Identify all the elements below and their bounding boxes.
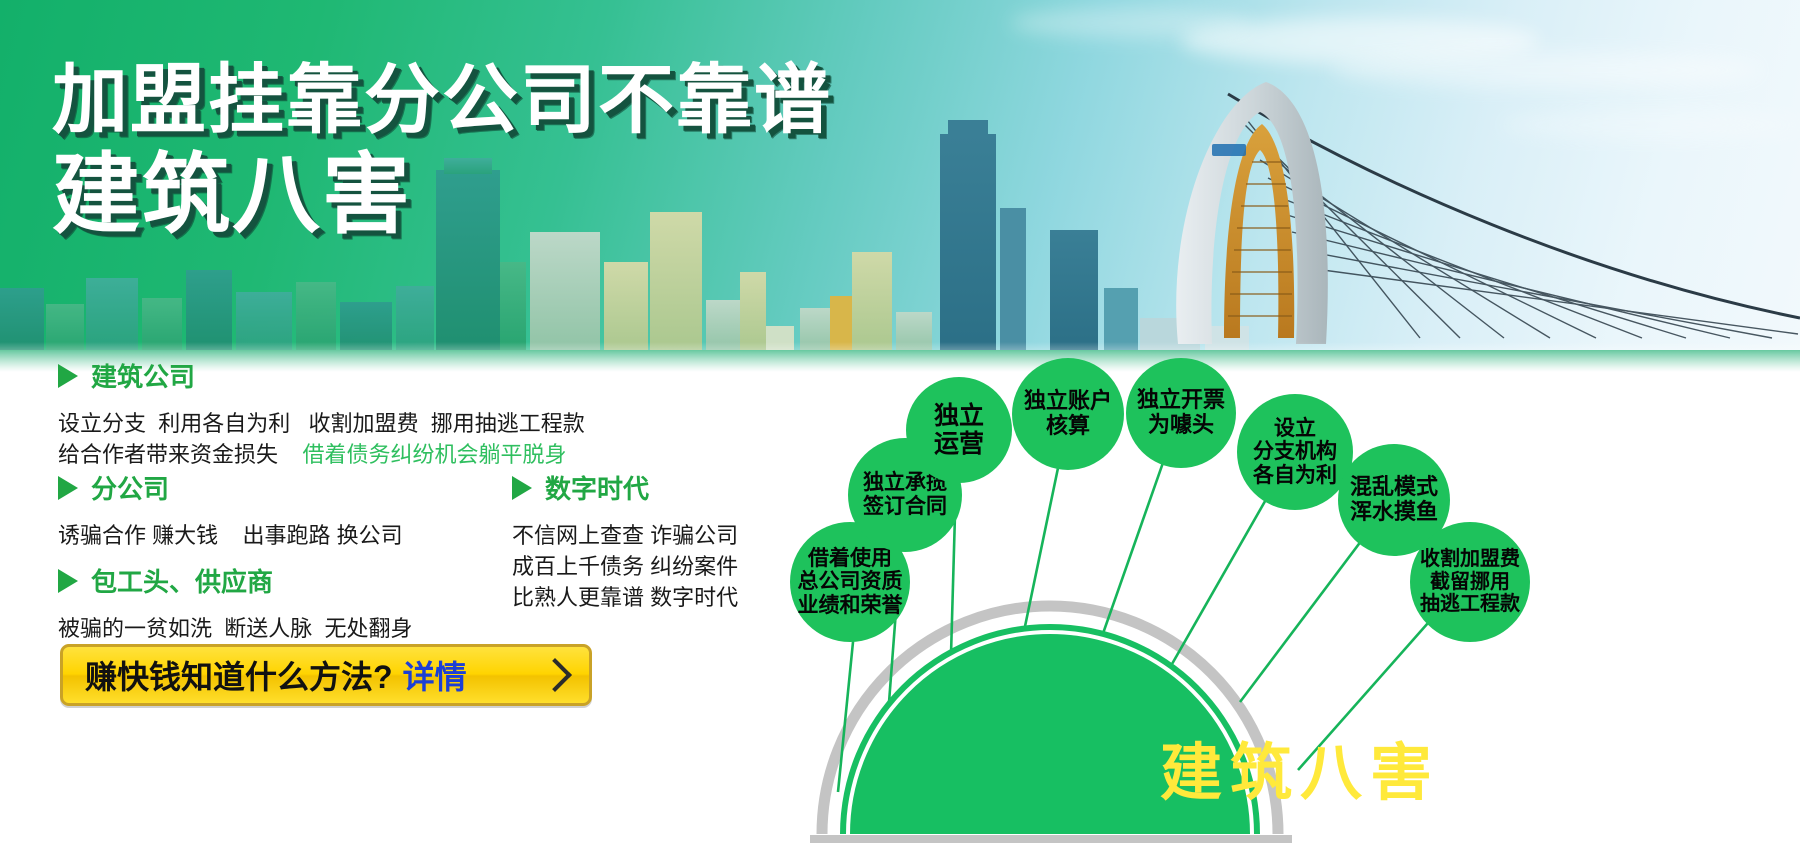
- section-body: 被骗的一贫如洗 断送人脉 无处翻身: [58, 613, 412, 644]
- body-line: 成百上千债务 纠纷案件: [512, 551, 738, 582]
- section-branch-company: 分公司 诱骗合作 赚大钱 出事跑路 换公司: [58, 469, 403, 551]
- section-digital-era: 数字时代 不信网上查查 诈骗公司 成百上千债务 纠纷案件 比熟人更靠谱 数字时代: [512, 469, 738, 614]
- section-heading: 分公司: [58, 469, 403, 506]
- bubble-text: 混乱模式 浑水摸鱼: [1350, 475, 1438, 524]
- bubble-text: 独立开票 为噱头: [1137, 388, 1225, 437]
- section-contractor-supplier: 包工头、供应商 被骗的一贫如洗 断送人脉 无处翻身: [58, 562, 412, 644]
- triangle-bullet-icon: [58, 364, 78, 388]
- section-heading: 数字时代: [512, 469, 738, 506]
- headline-line-1: 加盟挂靠分公司不靠谱: [52, 62, 832, 140]
- bubble-text: 设立 分支机构 各自为利: [1253, 417, 1337, 488]
- section-body: 设立分支 利用各自为利 收割加盟费 挪用抽逃工程款 给合作者带来资金损失 借着债…: [58, 408, 585, 470]
- body-text-highlight: 借着债务纠纷机会躺平脱身: [302, 442, 566, 467]
- triangle-bullet-icon: [58, 569, 78, 593]
- section-heading-label: 分公司: [91, 469, 169, 506]
- section-heading-label: 数字时代: [545, 469, 649, 506]
- section-body: 诱骗合作 赚大钱 出事跑路 换公司: [58, 520, 403, 551]
- bubble-8[interactable]: 收割加盟费 截留挪用 抽逃工程款: [1410, 522, 1530, 642]
- bubble-text: 收割加盟费 截留挪用 抽逃工程款: [1420, 548, 1520, 615]
- bubble-4[interactable]: 独立账户 核算: [1012, 358, 1124, 470]
- left-content: 建筑公司 设立分支 利用各自为利 收割加盟费 挪用抽逃工程款 给合作者带来资金损…: [0, 372, 800, 844]
- section-heading-label: 建筑公司: [91, 357, 195, 394]
- bubble-text: 独立承揽 签订合同: [863, 471, 947, 518]
- section-heading-label: 包工头、供应商: [91, 562, 273, 599]
- section-construction-company: 建筑公司 设立分支 利用各自为利 收割加盟费 挪用抽逃工程款 给合作者带来资金损…: [58, 357, 585, 470]
- cta-detail-link[interactable]: 详情: [403, 652, 467, 698]
- body-line: 给合作者带来资金损失 借着债务纠纷机会躺平脱身: [58, 439, 585, 470]
- body-line: 比熟人更靠谱 数字时代: [512, 582, 738, 613]
- poster-root: 加盟挂靠分公司不靠谱 建筑八害 建筑公司 设立分支 利用各自为利 收割加盟费 挪…: [0, 0, 1800, 844]
- body-line: 设立分支 利用各自为利 收割加盟费 挪用抽逃工程款: [58, 408, 585, 439]
- body-text: 给合作者带来资金损失: [58, 442, 302, 467]
- bridge-illustration: [1120, 66, 1800, 356]
- cloud-shape: [1010, 8, 1250, 38]
- triangle-bullet-icon: [58, 476, 78, 500]
- bubble-3[interactable]: 独立 运营: [906, 377, 1012, 483]
- cta-question-label: 赚快钱知道什么方法?: [85, 652, 393, 698]
- section-heading: 建筑公司: [58, 357, 585, 394]
- bridge-svg: [1120, 66, 1800, 356]
- cta-button[interactable]: 赚快钱知道什么方法? 详情: [60, 644, 592, 706]
- page-title: 加盟挂靠分公司不靠谱 建筑八害: [52, 62, 832, 239]
- chevron-right-icon: [538, 658, 572, 692]
- body-line: 不信网上查查 诈骗公司: [512, 520, 738, 551]
- dome-center-text: 建筑八害: [1160, 722, 1440, 812]
- section-heading: 包工头、供应商: [58, 562, 412, 599]
- diagram-panel: 建筑八害 借着使用 总公司资质 业绩和荣誉 独立承揽 签订合同 独立 运营: [800, 372, 1800, 844]
- bubble-text: 独立 运营: [934, 402, 984, 458]
- triangle-bullet-icon: [512, 476, 532, 500]
- section-body: 不信网上查查 诈骗公司 成百上千债务 纠纷案件 比熟人更靠谱 数字时代: [512, 520, 738, 614]
- headline-line-2: 建筑八害: [52, 150, 832, 240]
- bubble-5[interactable]: 独立开票 为噱头: [1126, 358, 1236, 468]
- hero-banner: 加盟挂靠分公司不靠谱 建筑八害: [0, 0, 1800, 372]
- bubble-text: 独立账户 核算: [1024, 389, 1112, 438]
- bubble-text: 借着使用 总公司资质 业绩和荣誉: [798, 547, 903, 618]
- bubble-6[interactable]: 设立 分支机构 各自为利: [1237, 394, 1353, 510]
- body-text: 设立分支 利用各自为利 收割加盟费 挪用抽逃工程款: [58, 411, 585, 436]
- body-line: 被骗的一贫如洗 断送人脉 无处翻身: [58, 613, 412, 644]
- body-line: 诱骗合作 赚大钱 出事跑路 换公司: [58, 520, 403, 551]
